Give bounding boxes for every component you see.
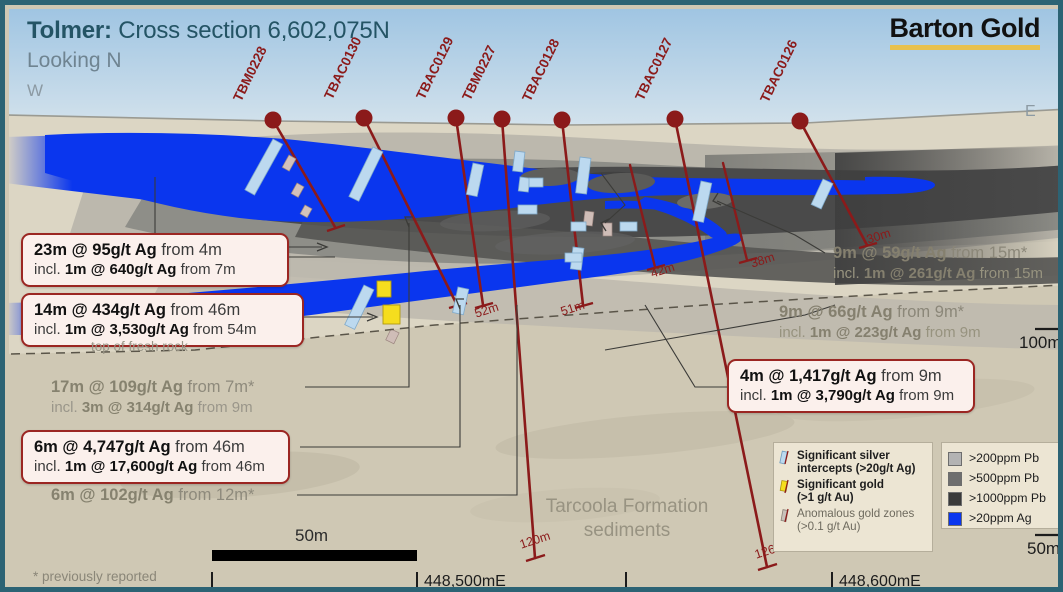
silver-intercept-bar: [565, 253, 582, 262]
silver-intercept-bar: [513, 151, 525, 172]
legend-symbols: Significant silver intercepts (>20g/t Ag…: [773, 442, 933, 552]
legend-item-anomalous: Anomalous gold zones (>0.1 g/t Au): [779, 507, 927, 533]
legend-swatch-row: >200ppm Pb: [948, 450, 1055, 466]
scale-bar-label: 50m: [295, 526, 328, 546]
swatch-500ppm-pb: [948, 472, 962, 486]
brand-underline: [890, 45, 1041, 50]
callout-text-17m: 17m @ 109g/t Ag from 7m* incl. 3m @ 314g…: [51, 377, 254, 418]
legend-label: Significant silver intercepts (>20g/t Ag…: [797, 449, 915, 475]
callout-line1: 14m @ 434g/t Ag from 46m: [34, 300, 291, 321]
callout-box-23m: 23m @ 95g/t Ag from 4m incl. 1m @ 640g/t…: [21, 233, 289, 287]
top-of-fresh-rock-label: top of fresh rock: [91, 339, 188, 354]
callout-line1: 4m @ 1,417g/t Ag from 9m: [740, 366, 962, 387]
east-label: E: [1025, 103, 1036, 121]
title-bold: Tolmer:: [27, 17, 112, 44]
page-title: Tolmer: Cross section 6,602,075N: [27, 17, 390, 45]
silver-intercept-bar: [571, 222, 586, 231]
formation-line1: Tarcoola Formation: [512, 495, 742, 519]
legend-item-silver: Significant silver intercepts (>20g/t Ag…: [779, 449, 927, 475]
cross-section-figure: Tolmer: Cross section 6,602,075N Looking…: [0, 0, 1063, 592]
callout-box-4m-1417: 4m @ 1,417g/t Ag from 9m incl. 1m @ 3,79…: [727, 359, 975, 413]
callout-line2: incl. 1m @ 223g/t Ag from 9m: [779, 323, 981, 343]
silver-intercept-bar: [620, 222, 637, 231]
formation-line2: sediments: [512, 519, 742, 543]
coordinate-label-left: 448,500mE: [424, 573, 506, 591]
brand-name: Barton Gold: [890, 13, 1041, 44]
silver-intercept-bar: [518, 205, 537, 214]
legend-swatches: >200ppm Pb >500ppm Pb >1000ppm Pb >20ppm…: [941, 442, 1061, 529]
callout-line2: incl. 1m @ 3,530g/t Ag from 54m: [34, 321, 291, 340]
coordinate-label-right: 448,600mE: [839, 573, 921, 591]
gold-intercept-icon: [779, 479, 793, 499]
callout-line1: 9m @ 59g/t Ag from 15m*: [833, 243, 1043, 264]
callout-line1: 23m @ 95g/t Ag from 4m: [34, 240, 276, 261]
callout-line2: incl. 3m @ 314g/t Ag from 9m: [51, 398, 254, 418]
callout-text-6m-102: 6m @ 102g/t Ag from 12m*: [51, 485, 254, 506]
callout-line1: 6m @ 102g/t Ag from 12m*: [51, 485, 254, 506]
callout-box-6m-4747: 6m @ 4,747g/t Ag from 46m incl. 1m @ 17,…: [21, 430, 290, 484]
silver-intercept-bar: [518, 177, 530, 192]
swatch-label: >20ppm Ag: [969, 511, 1032, 525]
formation-label: Tarcoola Formation sediments: [512, 495, 742, 543]
footnote: * previously reported: [33, 569, 157, 584]
swatch-label: >1000ppm Pb: [969, 491, 1046, 505]
callout-line2: incl. 1m @ 17,600g/t Ag from 46m: [34, 458, 277, 477]
view-direction-subtitle: Looking N: [27, 49, 122, 73]
swatch-200ppm-pb: [948, 452, 962, 466]
callout-text-9m-66: 9m @ 66g/t Ag from 9m* incl. 1m @ 223g/t…: [779, 302, 981, 343]
scale-bar: [212, 550, 417, 561]
silver-intercept-bar: [529, 178, 543, 187]
legend-label: Significant gold (>1 g/t Au): [797, 478, 884, 504]
gold-intercept-bar: [377, 281, 391, 297]
callout-line1: 9m @ 66g/t Ag from 9m*: [779, 302, 981, 323]
callout-line1: 17m @ 109g/t Ag from 7m*: [51, 377, 254, 398]
swatch-20ppm-ag: [948, 512, 962, 526]
legend-label: Anomalous gold zones (>0.1 g/t Au): [797, 507, 914, 533]
gold-intercept-bar: [383, 305, 400, 324]
callout-line1: 6m @ 4,747g/t Ag from 46m: [34, 437, 277, 458]
anomalous-gold-icon: [779, 508, 793, 528]
brand-logo: Barton Gold: [890, 13, 1041, 50]
silver-intercept-icon: [779, 450, 793, 470]
legend-swatch-row: >500ppm Pb: [948, 470, 1055, 486]
depth-label-100m: 100m: [1019, 333, 1062, 353]
callout-text-9m-59: 9m @ 59g/t Ag from 15m* incl. 1m @ 261g/…: [833, 243, 1043, 284]
depth-label-50m: 50m: [1027, 539, 1060, 559]
legend-swatch-row: >1000ppm Pb: [948, 490, 1055, 506]
swatch-label: >500ppm Pb: [969, 471, 1039, 485]
legend-item-gold: Significant gold (>1 g/t Au): [779, 478, 927, 504]
swatch-1000ppm-pb: [948, 492, 962, 506]
legend-swatch-row: >20ppm Ag: [948, 510, 1055, 526]
callout-line2: incl. 1m @ 261g/t Ag from 15m: [833, 264, 1043, 284]
west-label: W: [27, 81, 43, 101]
swatch-label: >200ppm Pb: [969, 451, 1039, 465]
callout-line2: incl. 1m @ 3,790g/t Ag from 9m: [740, 387, 962, 406]
callout-line2: incl. 1m @ 640g/t Ag from 7m: [34, 261, 276, 280]
